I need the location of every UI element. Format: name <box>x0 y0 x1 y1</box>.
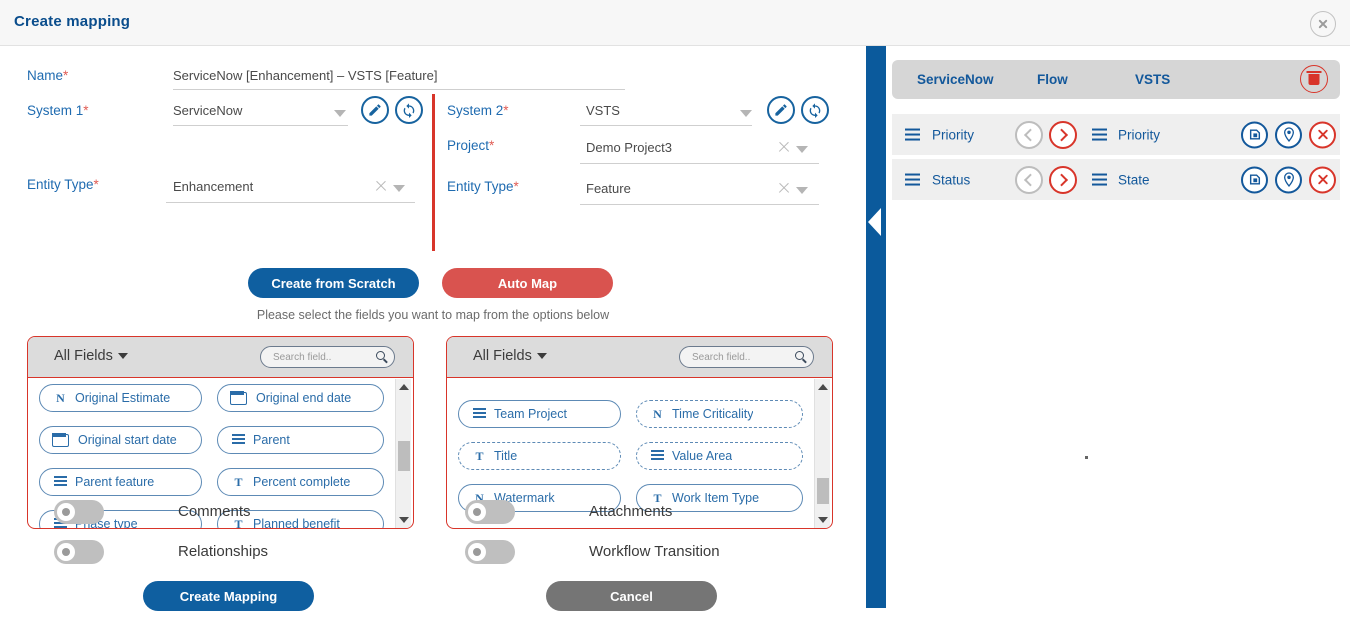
system2-select-value[interactable]: VSTS <box>586 103 620 118</box>
list-icon <box>52 474 69 488</box>
toggle-knob <box>57 503 75 521</box>
mapping-table-header: ServiceNow Flow VSTS <box>892 60 1340 99</box>
scrollbar-thumb[interactable] <box>817 478 829 504</box>
toggle-comments[interactable] <box>54 500 104 524</box>
drag-handle-right-icon[interactable] <box>1092 126 1107 143</box>
source-fields-scrollbar[interactable] <box>395 379 411 528</box>
toggle-attachments-label: Attachments <box>589 503 672 520</box>
drag-handle-left-icon[interactable] <box>905 126 920 143</box>
target-search-input[interactable] <box>690 347 790 367</box>
source-fields-header: All Fields <box>28 337 413 378</box>
toggle-relationships[interactable] <box>54 540 104 564</box>
column-header-system1: ServiceNow <box>917 72 994 87</box>
mapping-target-field: State <box>1118 172 1150 187</box>
mapping-source-field: Status <box>932 172 970 187</box>
system2-chevron-down-icon[interactable] <box>740 110 752 117</box>
field-chip-row: Original start dateParent <box>39 426 391 468</box>
name-input[interactable]: ServiceNow [Enhancement] – VSTS [Feature… <box>173 68 437 83</box>
entity-type-2-chevron-down-icon[interactable] <box>796 187 808 194</box>
toggle-workflow-transition-label: Workflow Transition <box>589 543 720 560</box>
drag-handle-right-icon[interactable] <box>1092 171 1107 188</box>
system2-underline <box>580 125 752 126</box>
mapping-target-field: Priority <box>1118 127 1160 142</box>
entity-type-1-select-value[interactable]: Enhancement <box>173 179 253 194</box>
flow-right-button[interactable] <box>1049 121 1077 149</box>
system2-label: System 2* <box>447 103 509 118</box>
flow-right-button[interactable] <box>1049 166 1077 194</box>
target-search-box[interactable] <box>679 346 814 368</box>
field-chip-label: Work Item Type <box>672 491 759 505</box>
entity-type-1-label: Entity Type* <box>27 177 99 192</box>
mapping-row[interactable]: PriorityPriority <box>892 114 1340 155</box>
project-chevron-down-icon[interactable] <box>796 146 808 153</box>
field-chip-row: NOriginal EstimateOriginal end date <box>39 384 391 426</box>
field-chip-label: Original Estimate <box>75 391 170 405</box>
entity-type-2-underline <box>580 204 819 205</box>
location-pin-icon[interactable] <box>1275 166 1302 193</box>
name-underline <box>173 89 625 90</box>
auto-map-button[interactable]: Auto Map <box>442 268 613 298</box>
system2-edit-icon[interactable] <box>767 96 795 124</box>
panel-collapse-strip[interactable] <box>866 46 886 608</box>
toggle-knob <box>57 543 75 561</box>
column-header-flow: Flow <box>1037 72 1068 87</box>
remove-icon[interactable] <box>1309 121 1336 148</box>
selection-hint: Please select the fields you want to map… <box>0 308 866 322</box>
scroll-down-icon[interactable] <box>399 517 409 523</box>
project-clear-icon[interactable] <box>777 140 790 153</box>
field-chip-label: Parent <box>253 433 290 447</box>
mapping-list-panel: ServiceNow Flow VSTS PriorityPrioritySta… <box>886 46 1350 608</box>
system1-underline <box>173 125 348 126</box>
artifact-dot <box>1085 456 1088 459</box>
remove-icon[interactable] <box>1309 166 1336 193</box>
cancel-button[interactable]: Cancel <box>546 581 717 611</box>
close-icon[interactable] <box>1310 11 1336 37</box>
search-icon <box>376 351 385 360</box>
field-chip-row: TTitleValue Area <box>458 442 810 484</box>
system1-label: System 1* <box>27 103 89 118</box>
toggle-comments-label: Comments <box>178 503 251 520</box>
mapping-form: Name* ServiceNow [Enhancement] – VSTS [F… <box>0 46 866 638</box>
field-chip[interactable]: NTime Criticality <box>636 400 803 428</box>
number-icon: N <box>649 407 666 422</box>
entity-type-1-clear-icon[interactable] <box>374 179 387 192</box>
search-icon <box>795 351 804 360</box>
project-label: Project* <box>447 138 494 153</box>
list-icon <box>649 448 666 462</box>
field-chip[interactable]: NOriginal Estimate <box>39 384 202 412</box>
window-titlebar: Create mapping <box>0 0 1350 46</box>
toggle-relationships-label: Relationships <box>178 543 268 560</box>
field-chip[interactable]: Original end date <box>217 384 384 412</box>
system1-refresh-icon[interactable] <box>395 96 423 124</box>
field-chip-label: Parent feature <box>75 475 154 489</box>
system1-edit-icon[interactable] <box>361 96 389 124</box>
field-chip-label: Time Criticality <box>672 407 753 421</box>
column-divider <box>432 94 435 251</box>
mapping-source-field: Priority <box>932 127 974 142</box>
field-chip[interactable]: Original start date <box>39 426 202 454</box>
toggle-workflow-transition[interactable] <box>465 540 515 564</box>
create-from-scratch-button[interactable]: Create from Scratch <box>248 268 419 298</box>
field-chip-label: Team Project <box>494 407 567 421</box>
target-all-fields-dropdown[interactable]: All Fields <box>473 348 547 364</box>
text-icon: T <box>471 449 488 464</box>
scrollbar-thumb[interactable] <box>398 441 410 471</box>
entity-type-1-underline <box>166 202 415 203</box>
number-icon: N <box>52 391 69 406</box>
chevron-down-icon <box>537 353 547 359</box>
system2-refresh-icon[interactable] <box>801 96 829 124</box>
source-all-fields-dropdown[interactable]: All Fields <box>54 348 128 364</box>
field-chip[interactable]: Value Area <box>636 442 803 470</box>
source-search-input[interactable] <box>271 347 371 367</box>
target-fields-scrollbar[interactable] <box>814 379 830 528</box>
field-chip-label: Title <box>494 449 517 463</box>
name-label: Name* <box>27 68 68 83</box>
entity-type-2-clear-icon[interactable] <box>777 181 790 194</box>
drag-handle-left-icon[interactable] <box>905 171 920 188</box>
field-chip-label: Percent complete <box>253 475 350 489</box>
field-chip-label: Value Area <box>672 449 732 463</box>
page-title: Create mapping <box>14 13 130 30</box>
list-icon <box>230 432 247 446</box>
toggle-knob <box>468 543 486 561</box>
field-chip[interactable]: Team Project <box>458 400 621 428</box>
system1-select-value[interactable]: ServiceNow <box>173 103 242 118</box>
create-mapping-button[interactable]: Create Mapping <box>143 581 314 611</box>
entity-type-1-chevron-down-icon[interactable] <box>393 185 405 192</box>
field-chip[interactable]: TPercent complete <box>217 468 384 496</box>
mapping-row[interactable]: StatusState <box>892 159 1340 200</box>
trash-icon[interactable] <box>1300 65 1328 93</box>
flow-left-button[interactable] <box>1015 121 1043 149</box>
column-header-system2: VSTS <box>1135 72 1170 87</box>
field-chip[interactable]: Parent <box>217 426 384 454</box>
field-chip-row: Team ProjectNTime Criticality <box>458 400 810 442</box>
chevron-left-icon[interactable] <box>868 208 881 236</box>
scroll-down-icon[interactable] <box>818 517 828 523</box>
entity-type-2-label: Entity Type* <box>447 179 519 194</box>
target-fields-header: All Fields <box>447 337 832 378</box>
project-underline <box>580 163 819 164</box>
field-chip[interactable]: TTitle <box>458 442 621 470</box>
entity-type-2-select-value[interactable]: Feature <box>586 181 631 196</box>
field-chip-label: Original end date <box>256 391 351 405</box>
system1-chevron-down-icon[interactable] <box>334 110 346 117</box>
calendar-icon <box>230 392 247 405</box>
field-chip-label: Original start date <box>78 433 177 447</box>
project-select-value[interactable]: Demo Project3 <box>586 140 672 155</box>
list-icon <box>471 406 488 420</box>
source-search-box[interactable] <box>260 346 395 368</box>
field-chip-label: Planned benefit <box>253 517 340 529</box>
value-mapping-icon[interactable] <box>1241 121 1268 148</box>
chevron-down-icon <box>118 353 128 359</box>
toggle-knob <box>468 503 486 521</box>
scroll-up-icon[interactable] <box>399 384 409 390</box>
scroll-up-icon[interactable] <box>818 384 828 390</box>
field-chip[interactable]: Parent feature <box>39 468 202 496</box>
calendar-icon <box>52 434 69 447</box>
location-pin-icon[interactable] <box>1275 121 1302 148</box>
value-mapping-icon[interactable] <box>1241 166 1268 193</box>
flow-left-button[interactable] <box>1015 166 1043 194</box>
text-icon: T <box>230 475 247 490</box>
toggle-attachments[interactable] <box>465 500 515 524</box>
